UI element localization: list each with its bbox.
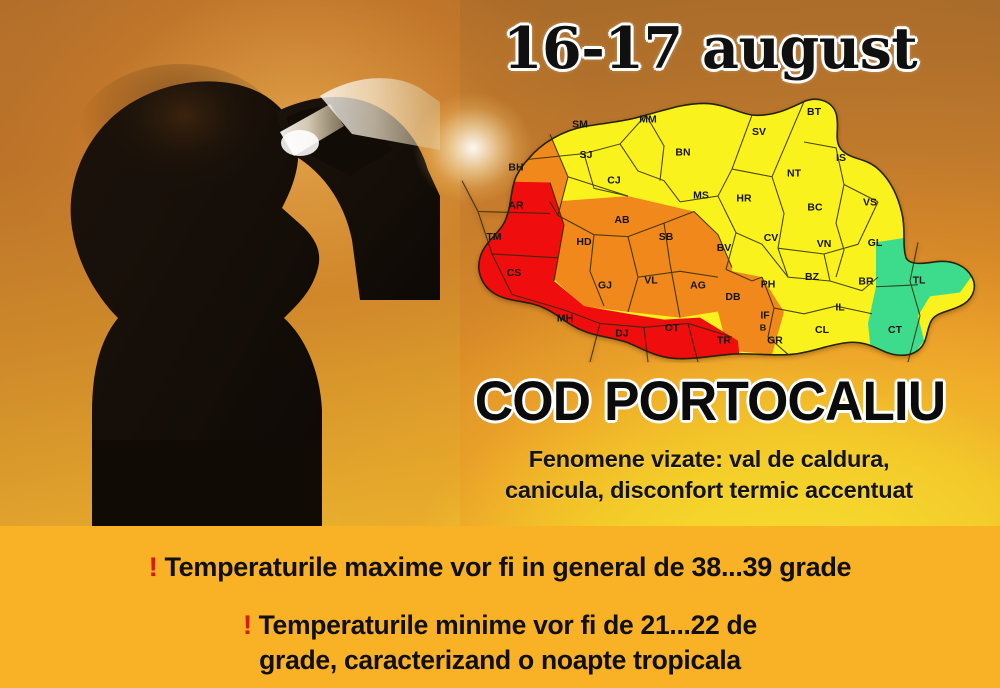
banner-line-2b-text: grade, caracterizand o noapte tropicala [0,643,1000,678]
county-label-ab: AB [614,215,629,226]
bottom-banner: !Temperaturile maxime vor fi in general … [0,526,1000,688]
county-label-mh: MH [557,313,573,324]
county-label-bn: BN [675,147,690,158]
county-label-hd: HD [576,237,591,248]
county-label-vs: VS [863,198,877,209]
banner-line-1: !Temperaturile maxime vor fi in general … [0,550,1000,584]
weather-warning-poster: 16-17 august [0,0,1000,688]
romania-warning-map: SMMMSJCJBNMSSVBTISNTBCVSHRCVBVVNGLBZBRPH… [432,88,982,363]
banner-line-2: !Temperaturile minime vor fi de 21...22 … [0,608,1000,678]
county-label-cs: CS [507,268,522,279]
county-label-sv: SV [752,127,766,138]
county-label-ph: PH [761,280,776,291]
county-label-ms: MS [693,191,709,202]
county-label-sj: SJ [580,150,593,161]
date-title: 16-17 august [430,18,990,80]
county-label-is: IS [836,153,846,164]
county-label-tm: TM [486,232,501,243]
county-label-gr: GR [767,336,783,347]
subtitle-line-2: canicula, disconfort termic accentuat [414,475,1000,506]
county-label-bh: BH [508,163,523,174]
county-label-ct: CT [888,325,903,336]
county-label-vn: VN [817,239,832,250]
county-label-dj: DJ [615,329,629,340]
county-label-if: IF [760,311,769,322]
subtitle-line-1: Fenomene vizate: val de caldura, [414,444,1000,475]
county-label-hr: HR [736,194,752,205]
county-label-cv: CV [764,233,779,244]
county-label-cl: CL [815,325,829,336]
county-label-mm: MM [639,115,656,126]
county-label-tl: TL [913,276,926,287]
banner-line-2a-text: Temperaturile minime vor fi de 21...22 d… [259,610,757,640]
phenomena-subtitle: Fenomene vizate: val de caldura, canicul… [414,444,1000,506]
county-label-bz: BZ [805,272,819,283]
exclamation-icon: ! [149,552,158,582]
county-label-il: IL [835,303,844,314]
drinking-person-silhouette [0,0,440,535]
banner-line-1-text: Temperaturile maxime vor fi in general d… [164,552,851,582]
county-label-bc: BC [807,202,823,213]
code-title: COD PORTOCALIU [435,372,986,432]
county-label-nt: NT [787,169,802,180]
county-label-sm: SM [572,119,588,130]
county-label-gj: GJ [598,281,612,292]
county-label-ot: OT [665,323,680,334]
county-label-b: B [760,323,767,333]
exclamation-icon-2: ! [243,610,252,640]
county-label-bt: BT [807,107,822,118]
county-label-br: BR [858,277,874,288]
county-label-cj: CJ [607,175,621,186]
county-label-db: DB [725,292,740,303]
county-label-bv: BV [717,243,732,254]
county-label-ag: AG [690,281,706,292]
county-label-vl: VL [644,276,657,287]
county-label-sb: SB [659,232,674,243]
banner-line-2a: !Temperaturile minime vor fi de 21...22 … [0,608,1000,643]
county-label-ar: AR [508,201,524,212]
county-label-gl: GL [868,238,883,249]
county-label-tr: TR [717,336,732,347]
